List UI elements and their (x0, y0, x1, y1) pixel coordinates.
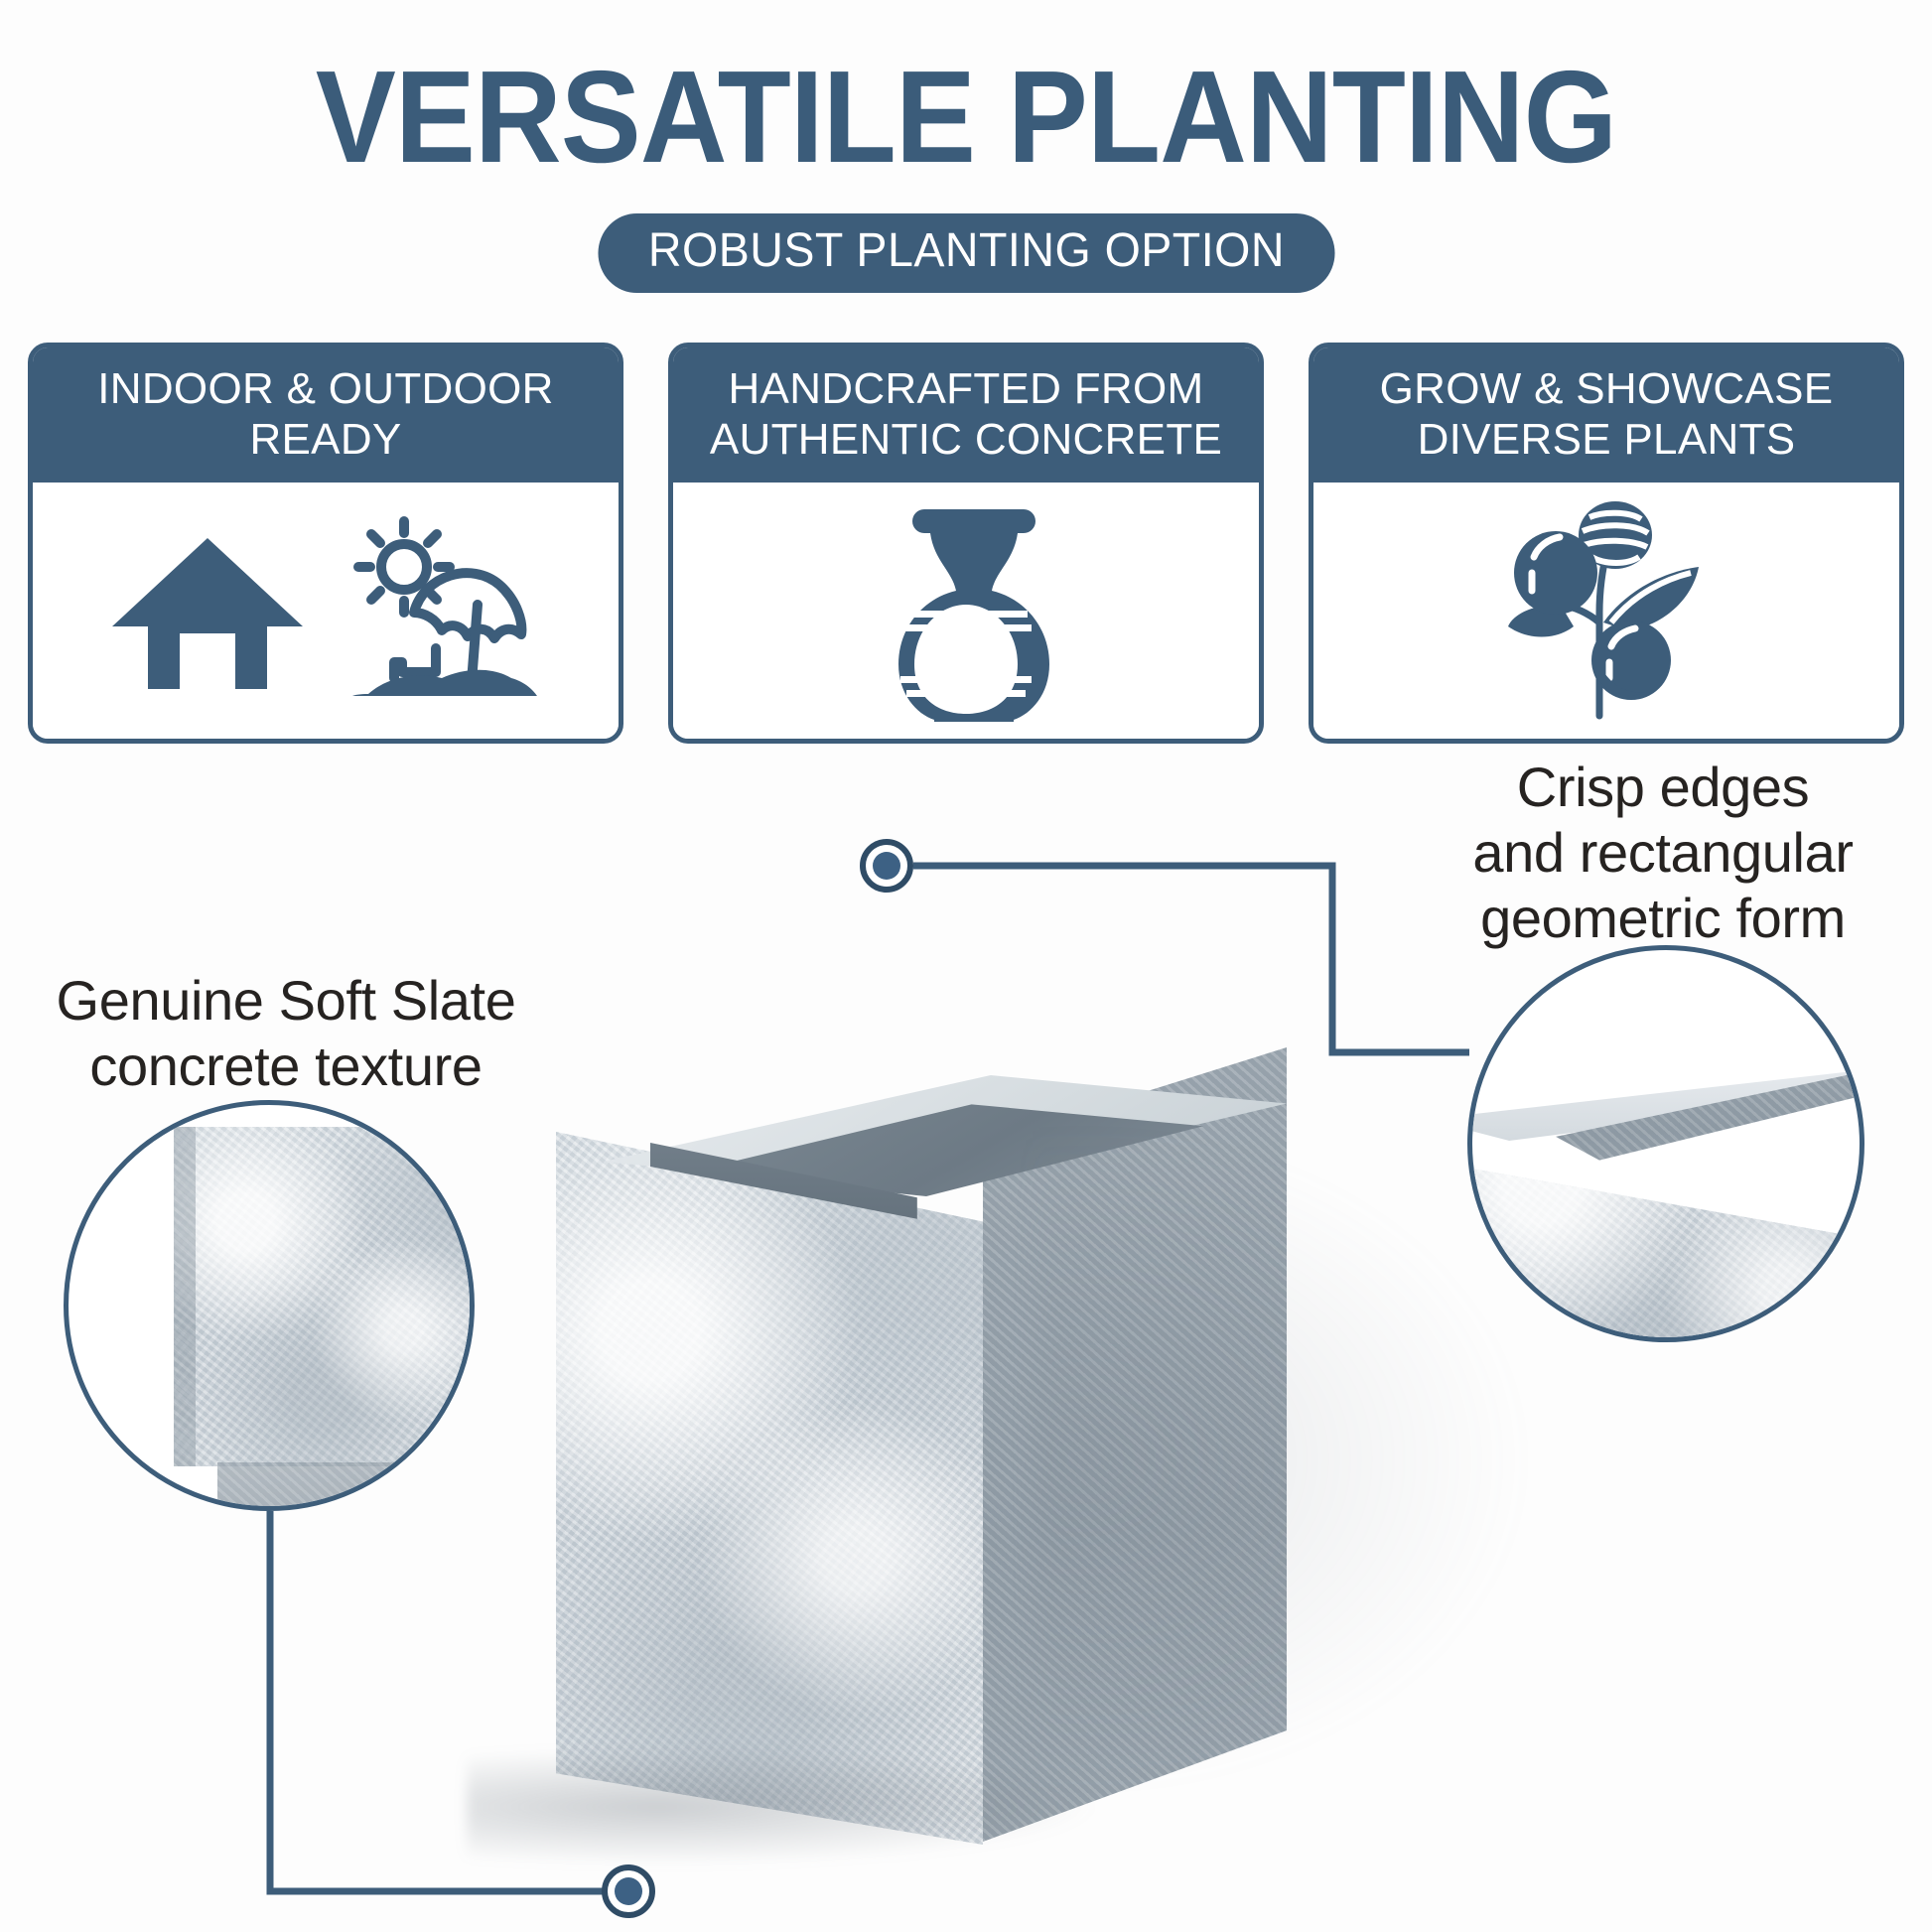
infographic-canvas: VERSATILE PLANTING ROBUST PLANTING OPTIO… (0, 0, 1932, 1932)
magnifier-concrete-texture (64, 1100, 475, 1511)
marker-bottom-edge[interactable] (602, 1864, 655, 1918)
leader-line-right (913, 866, 1469, 1052)
texture-face-edge (174, 1127, 196, 1466)
leader-line-left (270, 1511, 612, 1891)
magnifier-rim-edge (1467, 945, 1864, 1342)
texture-face-front (174, 1127, 475, 1466)
marker-top-rim[interactable] (860, 839, 913, 893)
texture-base-shadow (217, 1462, 475, 1511)
